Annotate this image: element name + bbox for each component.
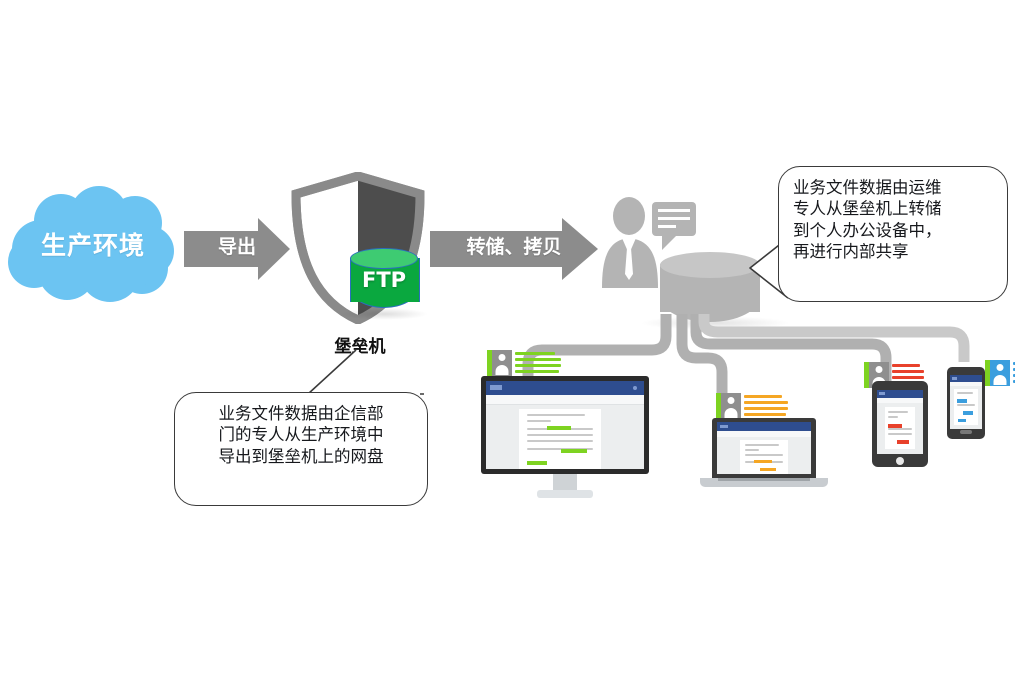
chat-bubble-icon (652, 202, 696, 250)
callout-right-line: 专人从堡垒机上转储 (793, 198, 993, 219)
arrow-transfer-copy-label: 转储、拷贝 (430, 232, 598, 259)
production-environment-cloud: 生产环境 (8, 186, 178, 304)
callout-left-tail (300, 348, 432, 398)
arrow-transfer-copy: 转储、拷贝 (430, 218, 598, 280)
callout-left-line: 导出到堡垒机上的网盘 (189, 446, 413, 467)
callout-left-line: 门的专人从生产环境中 (189, 424, 413, 445)
contact-card-orange (716, 393, 788, 419)
ftp-storage-icon: FTP (350, 248, 418, 310)
monitor-icon[interactable] (481, 376, 649, 506)
phone-icon[interactable] (947, 367, 985, 439)
callout-right-line: 再进行内部共享 (793, 241, 993, 262)
cloud-label: 生产环境 (8, 226, 178, 262)
callout-left-line: 业务文件数据由企信部 (189, 403, 413, 424)
arrow-export-label: 导出 (184, 232, 290, 259)
ftp-label: FTP (350, 268, 418, 292)
callout-left: 业务文件数据由企信部 门的专人从生产环境中 导出到堡垒机上的网盘 (174, 392, 428, 506)
contact-card-green (487, 350, 561, 376)
callout-right: 业务文件数据由运维 专人从堡垒机上转储 到个人办公设备中， 再进行内部共享 (778, 166, 1008, 302)
callout-right-line: 到个人办公设备中， (793, 220, 993, 241)
contact-card-blue (985, 360, 1015, 386)
avatar (990, 360, 1010, 386)
tablet-icon[interactable] (872, 381, 928, 467)
avatar (721, 393, 741, 419)
arrow-export: 导出 (184, 218, 290, 280)
callout-right-line: 业务文件数据由运维 (793, 177, 993, 198)
avatar (492, 350, 512, 376)
diagram-canvas: 生产环境 导出 FTP 堡垒机 转储、拷贝 (0, 0, 1015, 675)
laptop-icon[interactable] (700, 418, 828, 492)
